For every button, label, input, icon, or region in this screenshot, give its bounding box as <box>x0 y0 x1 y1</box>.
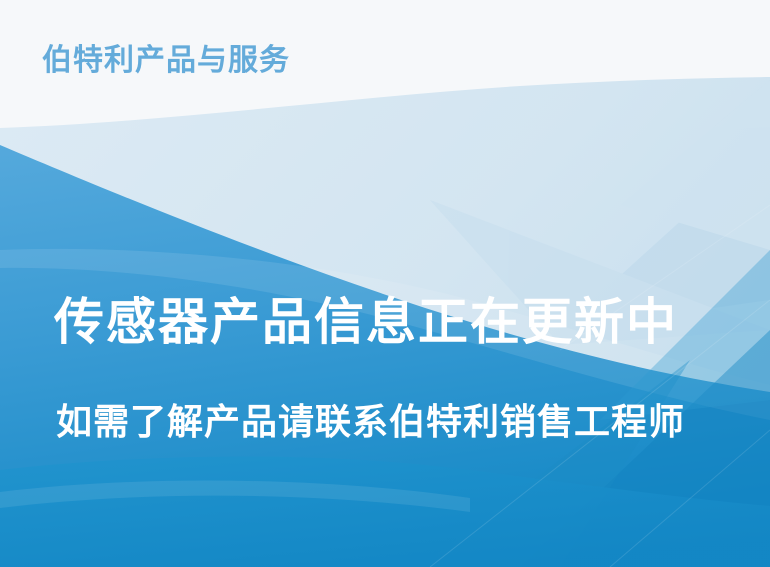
text-layer: 伯特利产品与服务 传感器产品信息正在更新中 如需了解产品请联系伯特利销售工程师 <box>0 0 770 567</box>
headline-text: 传感器产品信息正在更新中 <box>54 296 678 349</box>
product-service-banner: 伯特利产品与服务 传感器产品信息正在更新中 如需了解产品请联系伯特利销售工程师 <box>0 0 770 567</box>
subheadline-text: 如需了解产品请联系伯特利销售工程师 <box>56 404 685 442</box>
brand-title: 伯特利产品与服务 <box>42 46 290 76</box>
